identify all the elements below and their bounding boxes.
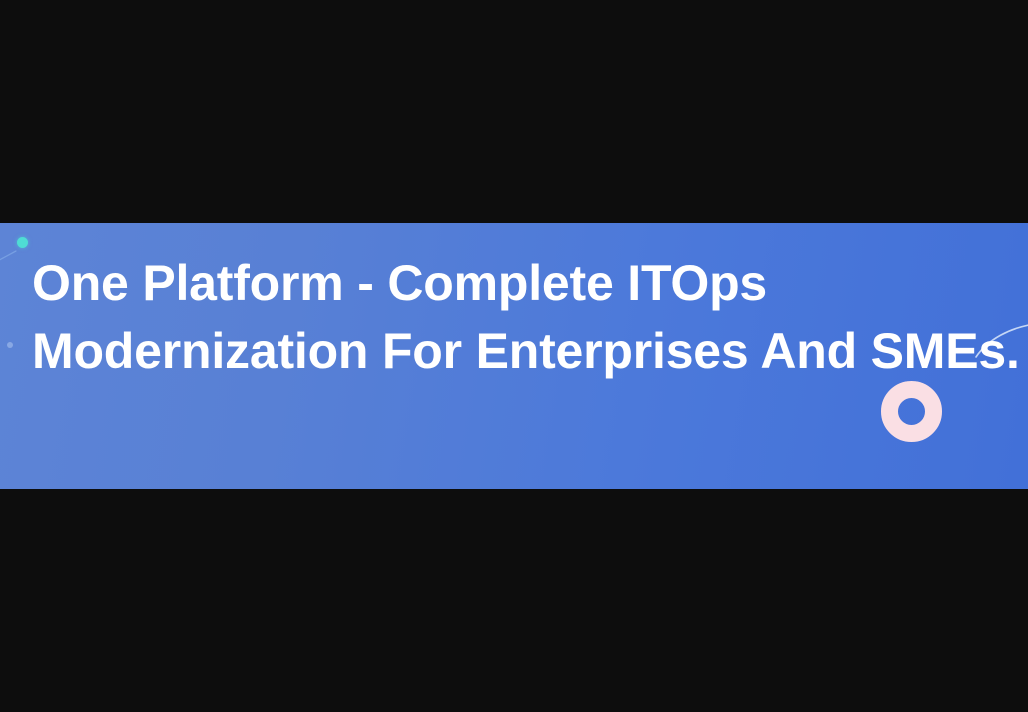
hero-headline-line-1: One Platform - Complete ITOps <box>32 249 992 317</box>
page-title: One Platform - Complete ITOps Modernizat… <box>32 249 992 385</box>
ring-icon <box>881 381 942 442</box>
page-background: One Platform - Complete ITOps Modernizat… <box>0 0 1028 712</box>
hero-headline-line-2: Modernization For Enterprises And SMEs. <box>32 317 992 385</box>
dot-icon <box>17 237 28 248</box>
hero-banner: One Platform - Complete ITOps Modernizat… <box>0 223 1028 489</box>
small-dot-icon <box>7 342 13 348</box>
line-icon <box>0 231 36 265</box>
